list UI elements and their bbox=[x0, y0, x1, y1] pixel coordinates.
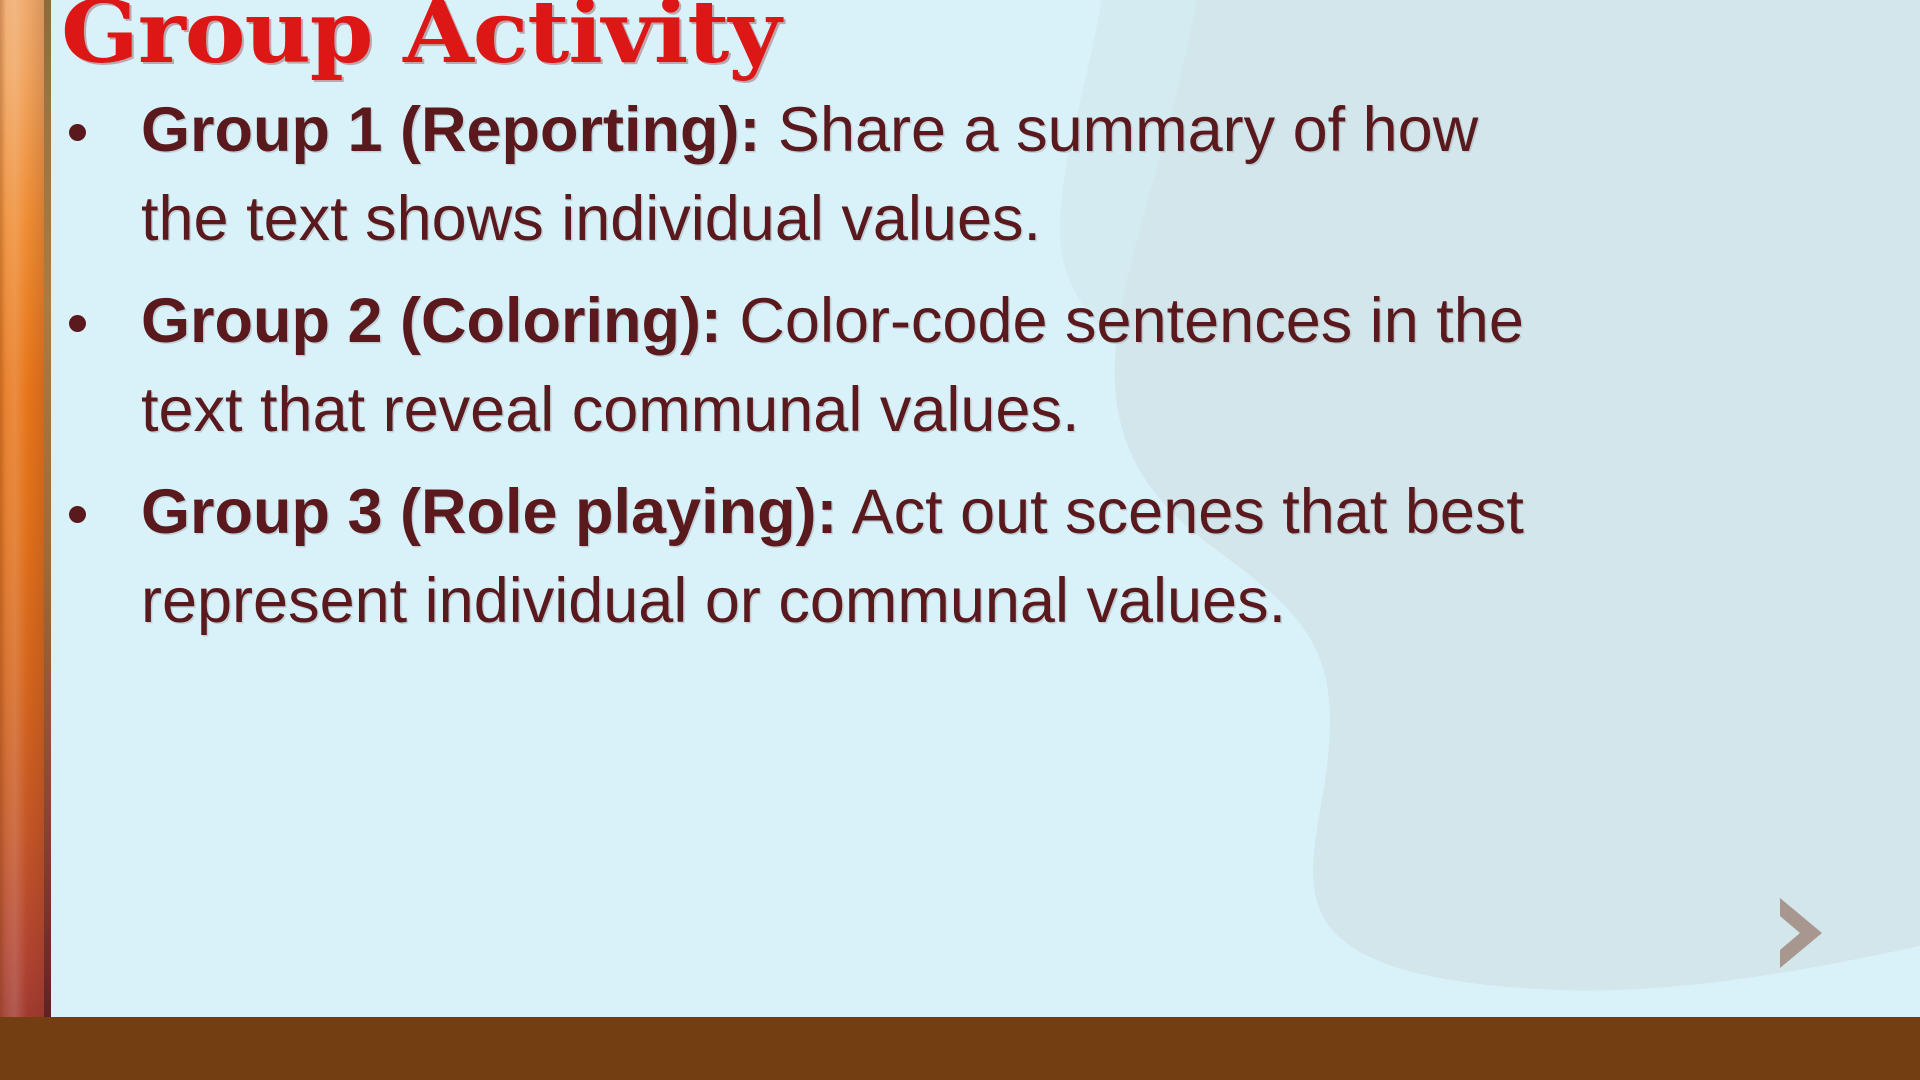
bullet-item-group-2: Group 2 (Coloring): Color-code sentences… bbox=[51, 277, 1571, 456]
left-accent-bar-edge bbox=[44, 0, 51, 1017]
bullet-dot-icon bbox=[69, 506, 86, 523]
bullet-dot-icon bbox=[69, 124, 86, 141]
bullet-item-group-1: Group 1 (Reporting): Share a summary of … bbox=[51, 86, 1571, 265]
bullet-label-group-1: Group 1 (Reporting): bbox=[141, 95, 760, 165]
bullet-item-group-3: Group 3 (Role playing): Act out scenes t… bbox=[51, 468, 1571, 647]
slide-canvas: Group Activity Group 1 (Reporting): Shar… bbox=[0, 0, 1920, 1080]
slide-title: Group Activity bbox=[61, 0, 780, 78]
left-accent-bar-highlight bbox=[0, 0, 44, 1017]
bullet-dot-icon bbox=[69, 315, 86, 332]
bullet-label-group-2: Group 2 (Coloring): bbox=[141, 286, 722, 356]
activity-bullet-list: Group 1 (Reporting): Share a summary of … bbox=[51, 86, 1571, 647]
bottom-accent-band bbox=[0, 1017, 1920, 1080]
chevron-right-icon[interactable] bbox=[1774, 894, 1828, 972]
bullet-label-group-3: Group 3 (Role playing): bbox=[141, 477, 838, 547]
